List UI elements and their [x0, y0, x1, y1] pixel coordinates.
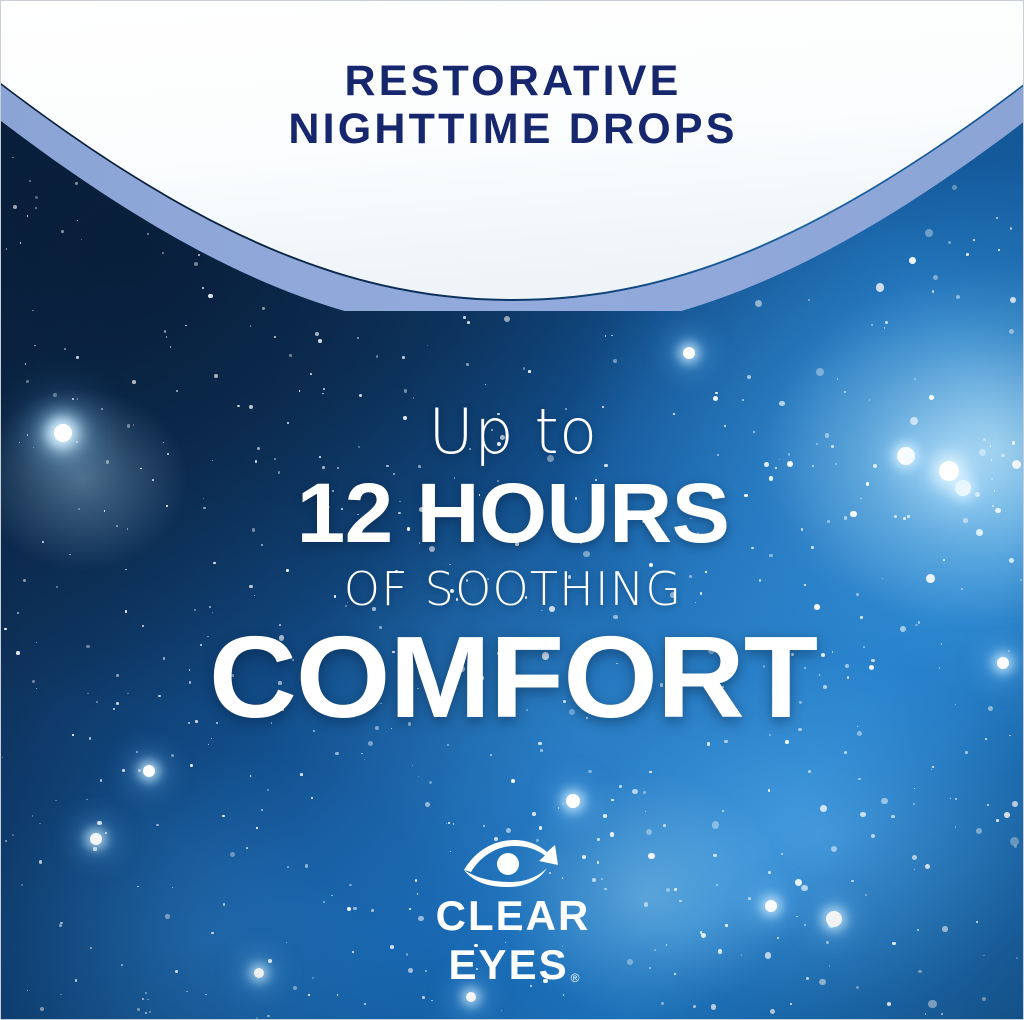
- star-dot: [145, 992, 147, 994]
- star-dot: [2, 757, 3, 758]
- star-dot: [76, 356, 78, 358]
- star-dot: [26, 380, 29, 383]
- star-dot: [322, 393, 324, 395]
- star-dot: [808, 770, 811, 773]
- star-dot: [646, 829, 652, 835]
- star-dot: [931, 769, 932, 770]
- star-dot: [335, 752, 338, 755]
- star-dot: [588, 770, 592, 774]
- star-dot: [711, 1004, 716, 1009]
- star-dot: [856, 986, 859, 989]
- star-dot: [506, 828, 511, 833]
- star-dot: [466, 363, 469, 366]
- star-dot: [747, 375, 752, 380]
- star-dot: [300, 773, 303, 776]
- star-dot: [683, 347, 695, 359]
- star-dot: [770, 1009, 775, 1014]
- star-dot: [605, 335, 607, 337]
- star-dot: [136, 751, 139, 754]
- star-dot: [816, 368, 824, 376]
- eye-arrow-icon: [460, 839, 566, 887]
- star-dot: [611, 799, 613, 801]
- star-dot: [148, 767, 150, 769]
- star-dot: [86, 799, 87, 800]
- star-dot: [858, 778, 860, 780]
- star-dot: [89, 737, 91, 739]
- star-dot: [299, 390, 301, 392]
- star-dot: [539, 826, 543, 830]
- star-dot: [34, 345, 35, 346]
- star-dot: [887, 1002, 891, 1006]
- star-dot: [987, 804, 989, 806]
- star-dot: [501, 1010, 502, 1011]
- star-dot: [562, 803, 564, 805]
- star-dot: [884, 327, 885, 328]
- advertisement-banner: RESTORATIVE NIGHTTIME DROPS Up to 12 HOU…: [0, 0, 1024, 1020]
- star-dot: [323, 388, 325, 390]
- star-dot: [538, 742, 541, 745]
- star-dot: [467, 321, 470, 324]
- star-dot: [267, 789, 269, 791]
- star-dot: [315, 332, 319, 336]
- claim-up-to: Up to: [1, 399, 1024, 465]
- star-dot: [53, 393, 56, 396]
- claim-duration: 12 HOURS: [0, 467, 1024, 559]
- star-dot: [837, 378, 839, 380]
- star-dot: [881, 798, 888, 805]
- star-dot: [261, 809, 263, 811]
- star-dot: [928, 1000, 937, 1009]
- star-dot: [661, 1002, 664, 1005]
- star-dot: [1009, 329, 1014, 334]
- header-headline-line-2: NIGHTTIME DROPS: [1, 105, 1024, 153]
- brand-name-line-1: CLEAR: [1, 895, 1024, 937]
- star-dot: [147, 999, 148, 1000]
- star-dot: [274, 336, 276, 338]
- star-dot: [186, 991, 188, 993]
- star-dot: [205, 994, 206, 995]
- star-dot: [361, 753, 362, 754]
- star-dot: [422, 996, 425, 999]
- brand-name-line-2: EYES: [449, 944, 569, 986]
- star-dot: [632, 789, 638, 795]
- header-headline: RESTORATIVE NIGHTTIME DROPS: [1, 57, 1024, 153]
- star-dot: [566, 794, 580, 808]
- star-dot: [950, 798, 952, 800]
- star-dot: [712, 821, 719, 828]
- star-dot: [97, 821, 102, 826]
- claim-of-soothing: OF SOOTHING: [1, 563, 1024, 615]
- star-dot: [318, 339, 322, 343]
- star-dot: [418, 776, 419, 777]
- brand-logo: CLEAR EYES®: [1, 839, 1024, 986]
- star-dot: [311, 797, 313, 799]
- star-dot: [976, 828, 982, 834]
- star-dot: [722, 810, 724, 812]
- star-dot: [447, 744, 449, 746]
- star-dot: [891, 815, 894, 818]
- star-dot: [693, 1005, 696, 1008]
- star-dot: [504, 316, 510, 322]
- star-dot: [40, 1007, 44, 1011]
- star-dot: [511, 779, 515, 783]
- star-dot: [790, 1003, 792, 1005]
- star-dot: [122, 769, 124, 771]
- star-dot: [64, 348, 66, 350]
- star-dot: [619, 785, 622, 788]
- star-dot: [613, 359, 617, 363]
- star-dot: [941, 1013, 943, 1015]
- star-dot: [528, 370, 531, 373]
- star-dot: [27, 990, 29, 992]
- header-curve-panel: [1, 1, 1024, 311]
- star-dot: [914, 378, 916, 380]
- star-dot: [25, 363, 26, 364]
- star-dot: [540, 749, 543, 752]
- star-dot: [404, 389, 407, 392]
- star-dot: [611, 335, 613, 337]
- header-headline-line-1: RESTORATIVE: [1, 57, 1024, 105]
- star-dot: [208, 744, 210, 746]
- star-dot: [222, 815, 225, 818]
- claim-benefit: COMFORT: [0, 617, 1024, 737]
- star-dot: [965, 751, 967, 753]
- star-dot: [250, 775, 251, 776]
- star-dot: [649, 771, 652, 774]
- star-dot: [132, 380, 136, 384]
- star-dot: [955, 798, 957, 800]
- star-dot: [466, 992, 476, 1002]
- star-dot: [364, 759, 365, 760]
- star-dot: [143, 765, 155, 777]
- star-dot: [425, 802, 430, 807]
- star-dot: [446, 823, 447, 824]
- star-dot: [308, 994, 309, 995]
- star-dot: [170, 346, 172, 348]
- star-dot: [663, 824, 666, 827]
- star-dot: [149, 1011, 151, 1013]
- star-dot: [357, 337, 360, 340]
- star-dot: [164, 330, 166, 332]
- star-dot: [412, 765, 414, 767]
- star-dot: [645, 811, 646, 812]
- star-dot: [871, 324, 873, 326]
- star-dot: [256, 827, 258, 829]
- star-dot: [137, 1008, 140, 1011]
- star-dot: [171, 754, 174, 757]
- registered-trademark-icon: ®: [571, 971, 580, 985]
- star-dot: [429, 781, 432, 784]
- star-dot: [913, 803, 915, 805]
- star-dot: [250, 325, 252, 327]
- star-dot: [523, 367, 526, 370]
- star-dot: [932, 766, 934, 768]
- star-dot: [982, 997, 986, 1001]
- star-dot: [145, 1012, 147, 1014]
- star-dot: [100, 779, 102, 781]
- star-dot: [985, 738, 987, 740]
- star-dot: [715, 392, 717, 394]
- star-dot: [885, 321, 888, 324]
- star-dot: [844, 391, 846, 393]
- star-dot: [643, 791, 646, 794]
- star-dot: [1004, 812, 1010, 818]
- star-dot: [364, 1003, 366, 1005]
- star-dot: [768, 789, 770, 791]
- star-dot: [490, 754, 492, 756]
- star-dot: [402, 356, 405, 359]
- star-dot: [105, 832, 108, 835]
- star-dot: [190, 764, 193, 767]
- star-dot: [485, 384, 486, 385]
- star-dot: [532, 812, 536, 816]
- star-dot: [166, 336, 168, 338]
- star-dot: [860, 812, 866, 818]
- star-dot: [256, 1017, 258, 1019]
- star-dot: [453, 823, 455, 825]
- star-dot: [1012, 801, 1018, 807]
- star-dot: [267, 1015, 269, 1017]
- star-dot: [60, 994, 62, 996]
- star-dot: [427, 345, 428, 346]
- main-claim-block: Up to 12 HOURS OF SOOTHING COMFORT: [1, 399, 1024, 737]
- star-dot: [12, 834, 14, 836]
- star-dot: [955, 826, 957, 828]
- star-dot: [707, 742, 711, 746]
- star-dot: [156, 824, 158, 826]
- star-dot: [32, 815, 34, 817]
- star-dot: [176, 390, 178, 392]
- star-dot: [138, 769, 141, 772]
- star-dot: [914, 788, 915, 789]
- star-dot: [431, 1000, 433, 1002]
- star-dot: [359, 394, 362, 397]
- star-dot: [214, 374, 218, 378]
- star-dot: [293, 986, 297, 990]
- star-dot: [185, 325, 186, 326]
- star-dot: [603, 814, 607, 818]
- star-dot: [558, 807, 559, 808]
- star-dot: [142, 998, 144, 1000]
- star-dot: [871, 834, 875, 838]
- star-dot: [610, 832, 615, 837]
- star-dot: [563, 994, 565, 996]
- star-dot: [820, 805, 827, 812]
- star-dot: [844, 751, 847, 754]
- star-dot: [925, 1013, 927, 1015]
- star-dot: [448, 822, 450, 824]
- star-dot: [483, 825, 485, 827]
- star-dot: [310, 373, 312, 375]
- star-dot: [289, 354, 292, 357]
- star-dot: [996, 819, 999, 822]
- star-dot: [337, 994, 338, 995]
- star-dot: [463, 316, 465, 318]
- star-dot: [39, 823, 41, 825]
- star-dot: [55, 800, 57, 802]
- brand-name-line-2-row: EYES®: [1, 944, 1024, 986]
- star-dot: [376, 355, 378, 357]
